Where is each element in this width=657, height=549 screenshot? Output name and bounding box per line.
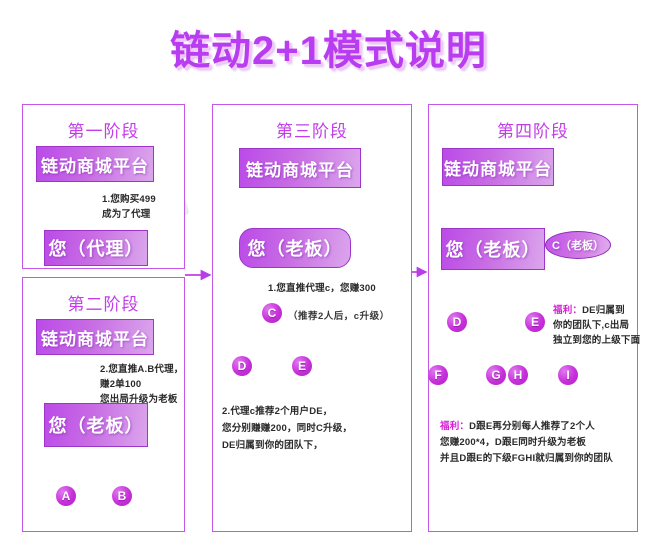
stage-title-2: 第二阶段	[23, 290, 184, 315]
node-circle-g: G	[486, 365, 506, 385]
platform-box-2: 链动商城平台	[36, 319, 154, 355]
node-circle-i: I	[558, 365, 578, 385]
note-stage-1: 1.您购买499 成为了代理	[102, 192, 156, 222]
c-boss-ellipse: C（老板）	[545, 231, 611, 259]
stage-title-4: 第四阶段	[429, 117, 637, 142]
node-circle-a: A	[56, 486, 76, 506]
platform-box-3: 链动商城平台	[239, 148, 361, 188]
note3-line1: 1.您直推代理c，您赚300	[268, 281, 376, 296]
node-circle-d3: D	[232, 356, 252, 376]
stage-title-1: 第一阶段	[23, 117, 184, 142]
page-title: 链动2+1模式说明	[0, 18, 657, 76]
poster-root: 易企网 易企网 易企网 链动2+1模式说明	[0, 0, 657, 549]
note3-c-paren: （推荐2人后，c升级）	[288, 308, 390, 322]
platform-box-1: 链动商城平台	[36, 146, 154, 182]
person-box-3: 您（老板）	[239, 228, 351, 268]
platform-box-4: 链动商城平台	[442, 148, 554, 186]
node-circle-d4: D	[447, 312, 467, 332]
node-circle-h: H	[508, 365, 528, 385]
node-circle-c: C	[262, 303, 282, 323]
note-stage-2: 2.您直推A.B代理， 赚2单100 您出局升级为老板	[100, 362, 183, 407]
person-box-4: 您（老板）	[441, 228, 545, 270]
node-circle-e4: E	[525, 312, 545, 332]
note3-line2: 2.代理c推荐2个用户DE， 您分别赚赚200，同时C升级， DE归属到你的团队…	[222, 403, 352, 454]
stage-title-3: 第三阶段	[213, 117, 411, 142]
benefit-label-1: 福利：	[553, 305, 582, 316]
benefit-note-1: 福利：DE归属到 你的团队下,c出局 独立到您的上级下面	[553, 288, 640, 348]
person-box-2: 您（老板）	[44, 403, 148, 447]
benefit-note-2: 福利：D跟E再分别每人推荐了2个人 您赚200*4，D跟E同时升级为老板 并且D…	[440, 403, 613, 467]
person-box-1: 您（代理）	[44, 230, 148, 266]
node-circle-e3: E	[292, 356, 312, 376]
benefit-label-2: 福利：	[440, 421, 469, 432]
node-circle-b: B	[112, 486, 132, 506]
node-circle-f: F	[428, 365, 448, 385]
